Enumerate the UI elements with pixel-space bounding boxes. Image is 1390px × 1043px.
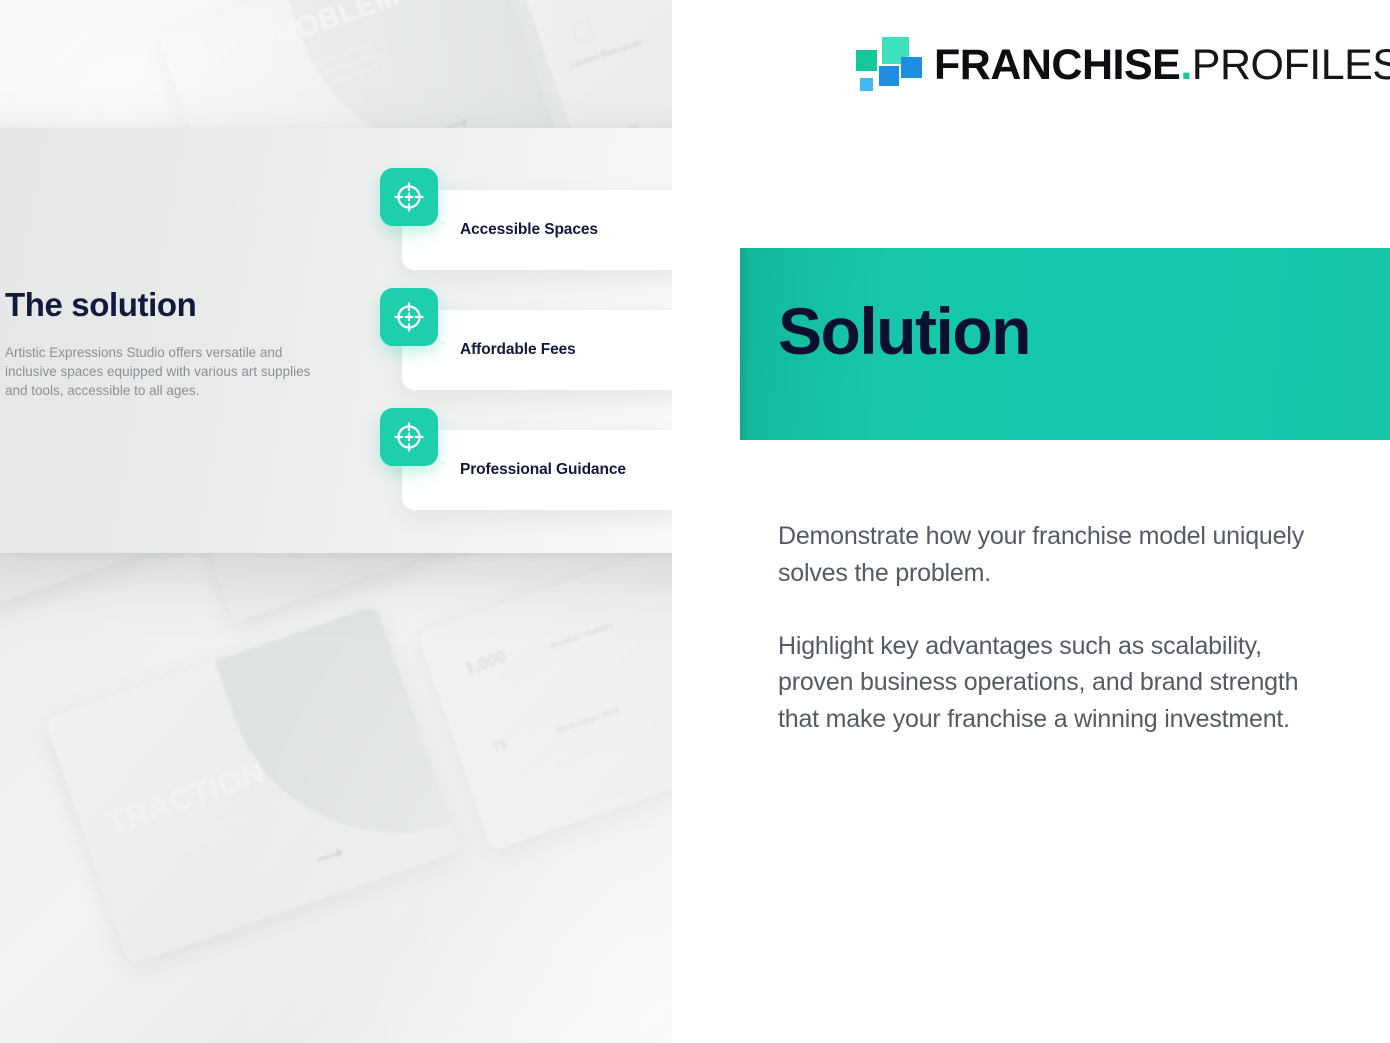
franchise-profiles-mark-icon xyxy=(850,34,912,96)
crosshair-target-icon xyxy=(380,168,438,226)
bg-slide-number: 1,000 xyxy=(462,647,509,680)
logo-square-1 xyxy=(856,50,877,71)
section-title: Solution xyxy=(778,298,1030,364)
copy-paragraph-2: Highlight key advantages such as scalabi… xyxy=(778,628,1324,738)
background-slide-metrics: 1,000 Monthly Visitors 75 Workshops Held xyxy=(417,530,672,852)
bg-slide-number: 75 xyxy=(489,735,509,755)
feature-item-affordable-fees[interactable]: Affordable Fees xyxy=(380,288,700,408)
feature-list: Accessible Spaces Affordab xyxy=(380,168,700,528)
feature-label: Professional Guidance xyxy=(402,461,626,479)
feature-card[interactable]: Accessible Spaces xyxy=(402,190,684,270)
slide-card-title: The solution xyxy=(5,288,335,323)
logo-square-3 xyxy=(860,78,873,91)
logo-square-4 xyxy=(879,66,899,86)
crosshair-target-icon xyxy=(380,288,438,346)
logo-square-5 xyxy=(901,57,922,78)
slide-card-description: Artistic Expressions Studio offers versa… xyxy=(5,343,320,400)
slide-card-text-block: The solution Artistic Expressions Studio… xyxy=(5,288,335,400)
brand-logo[interactable]: FRANCHISE.PROFILES xyxy=(850,34,1390,96)
right-panel: FRANCHISE.PROFILES Solution Demonstrate … xyxy=(672,0,1390,1043)
section-copy: Demonstrate how your franchise model uni… xyxy=(778,518,1324,738)
slide-preview-page: pitch deck MARKET spaces in urban and su… xyxy=(0,0,1390,1043)
feature-item-accessible-spaces[interactable]: Accessible Spaces xyxy=(380,168,700,288)
arrow-icon: ⟶ xyxy=(312,842,346,870)
feature-item-professional-guidance[interactable]: Professional Guidance xyxy=(380,408,700,528)
feature-card[interactable]: Professional Guidance xyxy=(402,430,684,510)
bg-slide-label: Workshops Held xyxy=(554,704,621,736)
brand-wordmark: FRANCHISE.PROFILES xyxy=(934,44,1390,87)
copy-paragraph-1: Demonstrate how your franchise model uni… xyxy=(778,518,1324,592)
section-banner: Solution xyxy=(740,248,1390,440)
solution-slide-card[interactable]: The solution Artistic Expressions Studio… xyxy=(0,128,740,553)
brand-dot: . xyxy=(1180,41,1191,89)
brand-name-light: PROFILES xyxy=(1192,41,1390,89)
crosshair-target-icon xyxy=(380,408,438,466)
feature-card[interactable]: Affordable Fees xyxy=(402,310,684,390)
bg-slide-label: Monthly Visitors xyxy=(549,620,615,652)
hourglass-icon xyxy=(571,19,595,46)
brand-name-bold: FRANCHISE xyxy=(934,41,1180,89)
background-slide-traction: TRACTION Significant milestones demonstr… xyxy=(45,606,461,966)
